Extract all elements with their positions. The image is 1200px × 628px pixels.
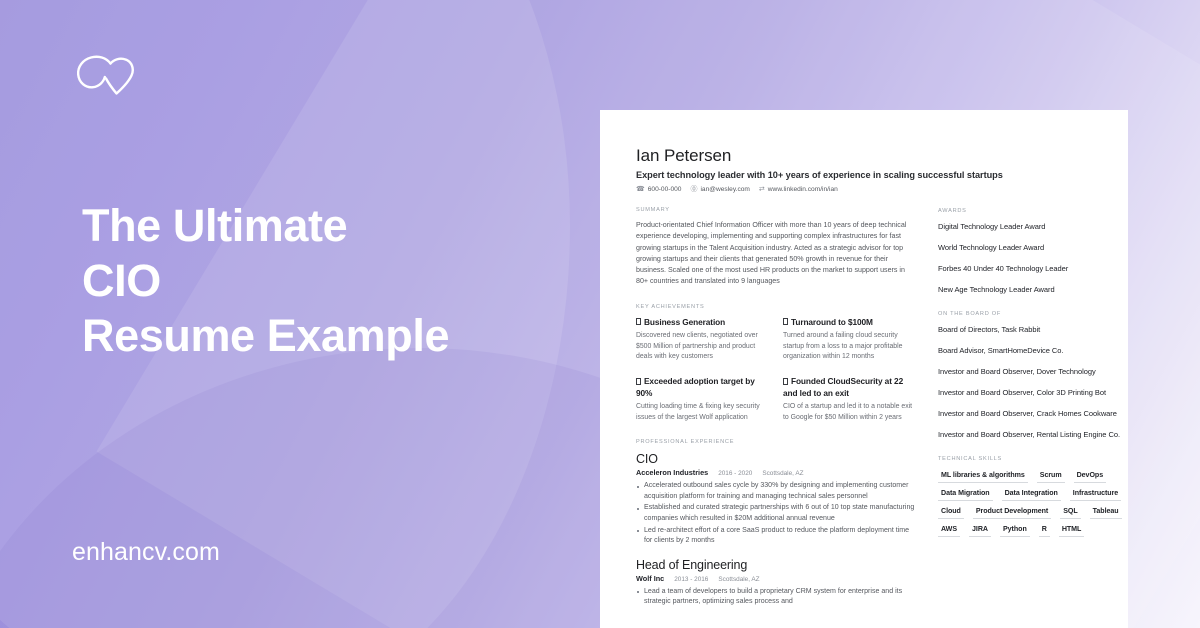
- achievement-item: Turnaround to $100M Turned around a fail…: [783, 317, 916, 363]
- resume-contact-row: ☎ 600-00-000 ⓪ ian@wesley.com ⇄ www.link…: [636, 186, 916, 193]
- achievement-title: Turnaround to $100M: [791, 317, 873, 327]
- skill-tag: Python: [1000, 523, 1030, 537]
- job-company: Acceleron Industries: [636, 468, 708, 477]
- skill-tag: Cloud: [938, 505, 964, 519]
- achievement-item: Business Generation Discovered new clien…: [636, 317, 769, 363]
- board-item: Investor and Board Observer, Rental List…: [938, 429, 1128, 440]
- job-location: Scottsdale, AZ: [762, 470, 803, 477]
- job-bullet: Established and curated strategic partne…: [636, 503, 916, 524]
- resume-name: Ian Petersen: [636, 146, 916, 166]
- skill-tag: SQL: [1060, 505, 1080, 519]
- skill-tag: Scrum: [1037, 469, 1065, 483]
- page-title: The Ultimate CIO Resume Example: [82, 198, 552, 363]
- job-dates: 2016 - 2020: [718, 470, 752, 477]
- achievement-body: Discovered new clients, negotiated over …: [636, 331, 769, 363]
- achievement-title-wrap: Exceeded adoption target by 90%: [636, 376, 769, 399]
- contact-phone-value: 600-00-000: [648, 186, 682, 193]
- achievement-title: Founded CloudSecurity at 22 and led to a…: [783, 376, 903, 398]
- board-item: Investor and Board Observer, Crack Homes…: [938, 408, 1128, 419]
- headline-line-2: CIO: [82, 253, 552, 308]
- awards-heading: AWARDS: [938, 208, 1128, 214]
- board-item: Investor and Board Observer, Dover Techn…: [938, 366, 1128, 377]
- skill-tag: AWS: [938, 523, 960, 537]
- job-location: Scottsdale, AZ: [718, 576, 759, 583]
- key-achievements-grid: Business Generation Discovered new clien…: [636, 317, 916, 423]
- missing-glyph-icon: [636, 378, 641, 385]
- job-company: Wolf Inc: [636, 574, 664, 583]
- contact-link: ⇄ www.linkedin.com/in/ian: [759, 186, 838, 193]
- skills-tag-list: ML libraries & algorithms Scrum DevOps D…: [938, 469, 1128, 537]
- achievement-body: Cutting loading time & fixing key securi…: [636, 402, 769, 423]
- skill-tag: Product Development: [973, 505, 1051, 519]
- board-item: Investor and Board Observer, Color 3D Pr…: [938, 387, 1128, 398]
- missing-glyph-icon: [783, 378, 788, 385]
- achievement-item: Exceeded adoption target by 90% Cutting …: [636, 376, 769, 423]
- experience-heading: PROFESSIONAL EXPERIENCE: [636, 439, 916, 445]
- job-bullet-list: Accelerated outbound sales cycle by 330%…: [636, 481, 916, 547]
- link-icon: ⇄: [759, 186, 765, 193]
- at-icon: ⓪: [690, 186, 697, 193]
- summary-heading: SUMMARY: [636, 207, 916, 213]
- skill-tag: R: [1039, 523, 1050, 537]
- achievement-body: Turned around a failing cloud security s…: [783, 331, 916, 363]
- awards-section: AWARDS Digital Technology Leader Award W…: [938, 208, 1128, 295]
- key-achievements-section: KEY ACHIEVEMENTS Business Generation Dis…: [636, 304, 916, 423]
- board-item: Board Advisor, SmartHomeDevice Co.: [938, 345, 1128, 356]
- job-bullet: Lead a team of developers to build a pro…: [636, 587, 916, 608]
- technical-skills-section: TECHNICAL SKILLS ML libraries & algorith…: [938, 456, 1128, 537]
- headline-line-1: The Ultimate: [82, 198, 552, 253]
- skill-tag: Data Migration: [938, 487, 993, 501]
- board-heading: ON THE BOARD OF: [938, 311, 1128, 317]
- award-item: World Technology Leader Award: [938, 242, 1128, 253]
- contact-email: ⓪ ian@wesley.com: [690, 186, 749, 193]
- job-bullet: Accelerated outbound sales cycle by 330%…: [636, 481, 916, 502]
- job-bullet: Led re-architect effort of a core SaaS p…: [636, 526, 916, 547]
- skill-tag: DevOps: [1074, 469, 1107, 483]
- resume-tagline: Expert technology leader with 10+ years …: [636, 170, 916, 180]
- skills-heading: TECHNICAL SKILLS: [938, 456, 1128, 462]
- job-meta: Acceleron Industries 2016 - 2020 Scottsd…: [636, 468, 916, 477]
- phone-icon: ☎: [636, 186, 645, 193]
- key-achievements-heading: KEY ACHIEVEMENTS: [636, 304, 916, 310]
- experience-job: CIO Acceleron Industries 2016 - 2020 Sco…: [636, 452, 916, 547]
- board-section: ON THE BOARD OF Board of Directors, Task…: [938, 311, 1128, 440]
- headline-line-3: Resume Example: [82, 308, 552, 363]
- job-bullet-list: Lead a team of developers to build a pro…: [636, 587, 916, 608]
- award-item: New Age Technology Leader Award: [938, 284, 1128, 295]
- site-url[interactable]: enhancv.com: [72, 538, 220, 567]
- missing-glyph-icon: [636, 318, 641, 325]
- missing-glyph-icon: [783, 318, 788, 325]
- contact-email-value: ian@wesley.com: [700, 186, 749, 193]
- skill-tag: JIRA: [969, 523, 991, 537]
- contact-link-value: www.linkedin.com/in/ian: [768, 186, 838, 193]
- board-item: Board of Directors, Task Rabbit: [938, 324, 1128, 335]
- achievement-item: Founded CloudSecurity at 22 and led to a…: [783, 376, 916, 423]
- branding-panel: The Ultimate CIO Resume Example enhancv.…: [0, 0, 600, 628]
- achievement-body: CIO of a startup and led it to a notable…: [783, 402, 916, 423]
- job-title: Head of Engineering: [636, 558, 916, 572]
- skill-tag: HTML: [1059, 523, 1085, 537]
- award-item: Forbes 40 Under 40 Technology Leader: [938, 263, 1128, 274]
- job-meta: Wolf Inc 2013 - 2016 Scottsdale, AZ: [636, 574, 916, 583]
- job-title: CIO: [636, 452, 916, 466]
- promo-banner: The Ultimate CIO Resume Example enhancv.…: [0, 0, 1200, 628]
- skill-tag: Data Integration: [1002, 487, 1061, 501]
- job-dates: 2013 - 2016: [674, 576, 708, 583]
- achievement-title-wrap: Founded CloudSecurity at 22 and led to a…: [783, 376, 916, 399]
- skill-tag: ML libraries & algorithms: [938, 469, 1028, 483]
- achievement-title-wrap: Business Generation: [636, 317, 769, 329]
- summary-section: SUMMARY Product-orientated Chief Informa…: [636, 207, 916, 288]
- resume-side-column: AWARDS Digital Technology Leader Award W…: [938, 146, 1128, 628]
- resume-main-column: Ian Petersen Expert technology leader wi…: [636, 146, 916, 628]
- award-item: Digital Technology Leader Award: [938, 221, 1128, 232]
- achievement-title-wrap: Turnaround to $100M: [783, 317, 916, 329]
- achievement-title: Exceeded adoption target by 90%: [636, 376, 755, 398]
- skill-tag: Tableau: [1090, 505, 1122, 519]
- resume-preview-card[interactable]: Ian Petersen Expert technology leader wi…: [600, 110, 1128, 628]
- experience-job: Head of Engineering Wolf Inc 2013 - 2016…: [636, 558, 916, 608]
- skill-tag: Infrastructure: [1070, 487, 1121, 501]
- professional-experience-section: PROFESSIONAL EXPERIENCE CIO Acceleron In…: [636, 439, 916, 608]
- contact-phone: ☎ 600-00-000: [636, 186, 681, 193]
- achievement-title: Business Generation: [644, 317, 725, 327]
- summary-text: Product-orientated Chief Information Off…: [636, 220, 916, 288]
- enhancv-loop-logo-icon: [74, 52, 144, 98]
